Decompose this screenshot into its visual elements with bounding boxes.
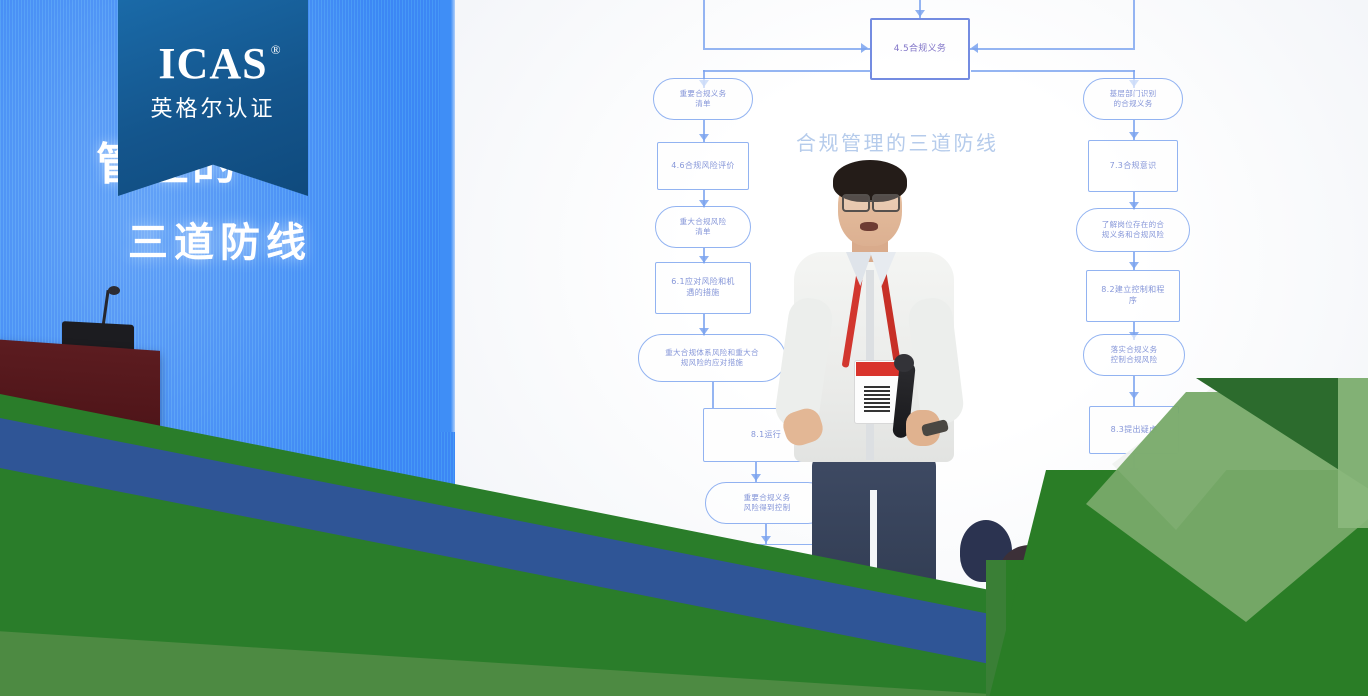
flow-node-7-3: 7.3合规意识 xyxy=(1088,140,1178,192)
flow-node-major-risk-list: 重大合规风险 清单 xyxy=(655,206,751,248)
icas-brand-text: ICAS xyxy=(158,39,267,88)
speaker-mouth xyxy=(860,222,878,231)
conn-right-to-45 xyxy=(970,48,1135,50)
conn-left-to-45 xyxy=(703,48,870,50)
conn-right-up xyxy=(1133,0,1135,48)
wall-headline-line2: 三道防线 xyxy=(128,210,312,268)
flow-node-important-duty-list: 重要合规义务 清单 xyxy=(653,78,753,120)
flow-node-major-measures: 重大合规体系风险和重大合 规风险的应对措施 xyxy=(638,334,786,382)
registered-mark-icon: ® xyxy=(271,42,282,58)
glasses-bridge-icon xyxy=(866,200,872,202)
podium-microphone-icon xyxy=(108,286,120,295)
arrow-r3 xyxy=(1129,262,1139,269)
arrow-45-top xyxy=(915,10,925,17)
presentation-photo: 管理的 三道防线 ICAS® 英格尔认证 4.5合规义务 xyxy=(0,0,1368,696)
icas-wordmark: ICAS® xyxy=(158,38,267,89)
arrow-into-45-right xyxy=(971,43,978,53)
conn-45-left-branch xyxy=(703,70,871,72)
microphone-head-icon xyxy=(894,354,914,372)
arrow-l6 xyxy=(751,474,761,481)
qr-code-icon xyxy=(864,386,890,412)
flow-node-4-5: 4.5合规义务 xyxy=(870,18,970,80)
conn-l5 xyxy=(712,382,714,408)
conn-left-up xyxy=(703,0,705,48)
flow-node-6-1: 6.1应对风险和机 遇的措施 xyxy=(655,262,751,314)
speaker-figure xyxy=(780,160,980,620)
glasses-icon xyxy=(842,194,870,212)
flow-node-implement-duty: 落实合规义务 控制合规风险 xyxy=(1083,334,1185,376)
flow-node-grassroots-duty: 基层部门识别 的合规义务 xyxy=(1083,78,1183,120)
arrow-l7 xyxy=(761,536,771,543)
arrow-r1 xyxy=(1129,132,1139,139)
arrow-l1 xyxy=(699,134,709,141)
flow-node-4-6: 4.6合规风险评价 xyxy=(657,142,749,190)
icas-chinese-name: 英格尔认证 xyxy=(118,91,308,123)
graphic-strip-green-light xyxy=(1338,378,1368,528)
flow-node-know-post-duty: 了解岗位存在的合 规义务和合规风险 xyxy=(1076,208,1190,252)
conn-r5 xyxy=(1133,376,1135,406)
arrow-into-45-left xyxy=(861,43,868,53)
arrow-r5 xyxy=(1129,392,1139,399)
slide-title: 合规管理的三道防线 xyxy=(796,127,999,156)
flow-node-8-2: 8.2建立控制和程 序 xyxy=(1086,270,1180,322)
glasses-icon xyxy=(872,194,900,212)
conn-45-right-branch xyxy=(971,70,1135,72)
